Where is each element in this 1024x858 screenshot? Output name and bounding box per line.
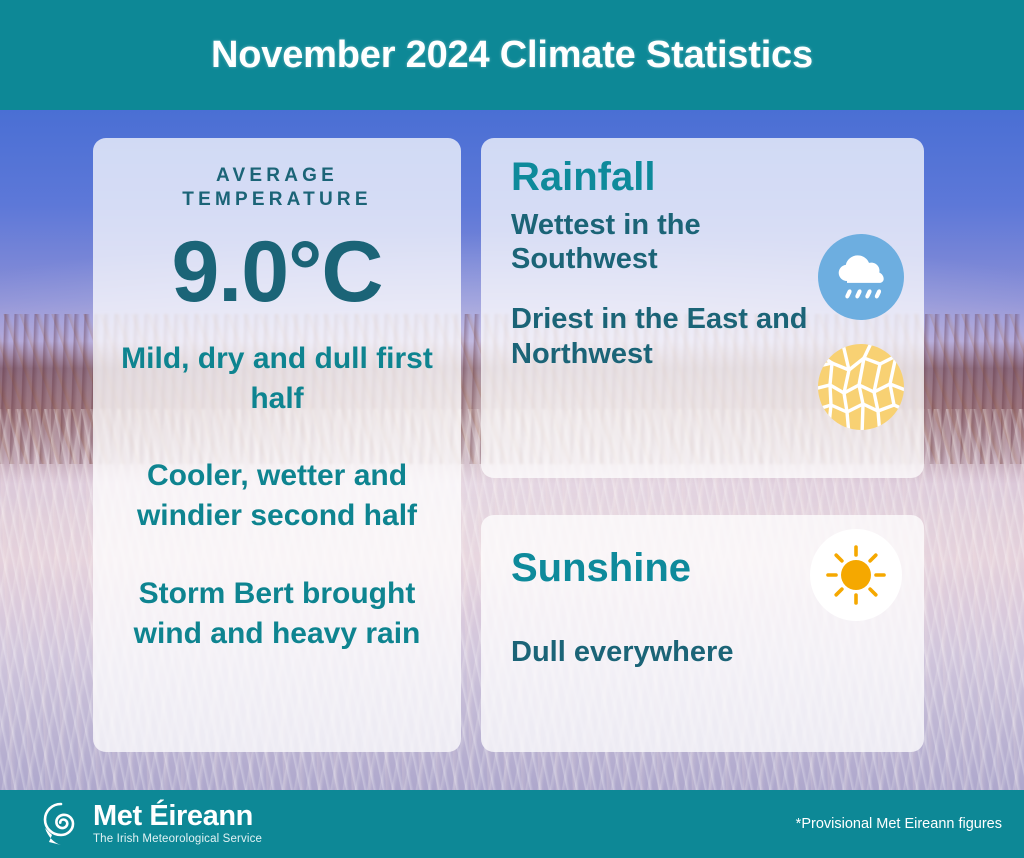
average-temperature-label: AVERAGE TEMPERATURE (182, 164, 371, 213)
brand-text: Met Éireann The Irish Meteorological Ser… (93, 802, 262, 846)
sun-icon-svg (810, 529, 902, 621)
dry-cracked-earth-icon (818, 344, 904, 435)
kicker-line-1: AVERAGE (216, 165, 338, 186)
brand-name: Met Éireann (93, 802, 262, 831)
content-stage: AVERAGE TEMPERATURE 9.0°C Mild, dry and … (0, 110, 1024, 790)
rainfall-card: Rainfall Wettest in the Southwest Driest… (481, 138, 924, 478)
rainfall-line-1: Wettest in the Southwest (511, 208, 811, 276)
average-temperature-card: AVERAGE TEMPERATURE 9.0°C Mild, dry and … (93, 138, 461, 752)
rain-cloud-icon (818, 234, 904, 325)
average-temperature-value: 9.0°C (171, 229, 382, 315)
temperature-note-1: Mild, dry and dull first half (119, 339, 435, 419)
page-header: November 2024 Climate Statistics (0, 0, 1024, 110)
brand-tagline: The Irish Meteorological Service (93, 834, 262, 846)
kicker-line-2: TEMPERATURE (182, 189, 371, 210)
page-footer: Met Éireann The Irish Meteorological Ser… (0, 790, 1024, 858)
temperature-note-2: Cooler, wetter and windier second half (119, 456, 435, 536)
rain-cloud-icon-svg (818, 234, 904, 320)
rainfall-heading: Rainfall (511, 156, 902, 198)
rainfall-line-2: Driest in the East and Northwest (511, 302, 811, 370)
infographic-page: November 2024 Climate Statistics AVERAGE… (0, 0, 1024, 858)
footer-note: *Provisional Met Eireann figures (796, 816, 1002, 832)
sunshine-line-1: Dull everywhere (511, 635, 771, 669)
met-eireann-spiral-logo (38, 798, 84, 851)
sunshine-card: Sunshine Dull everywhere (481, 515, 924, 752)
dry-cracked-earth-icon-svg (818, 344, 904, 430)
sun-icon (810, 529, 902, 626)
temperature-note-3: Storm Bert brought wind and heavy rain (119, 574, 435, 654)
cards-container: AVERAGE TEMPERATURE 9.0°C Mild, dry and … (0, 110, 1024, 790)
page-title: November 2024 Climate Statistics (211, 34, 813, 77)
brand-lockup: Met Éireann The Irish Meteorological Ser… (38, 798, 262, 851)
met-eireann-spiral-logo-svg (38, 798, 84, 846)
